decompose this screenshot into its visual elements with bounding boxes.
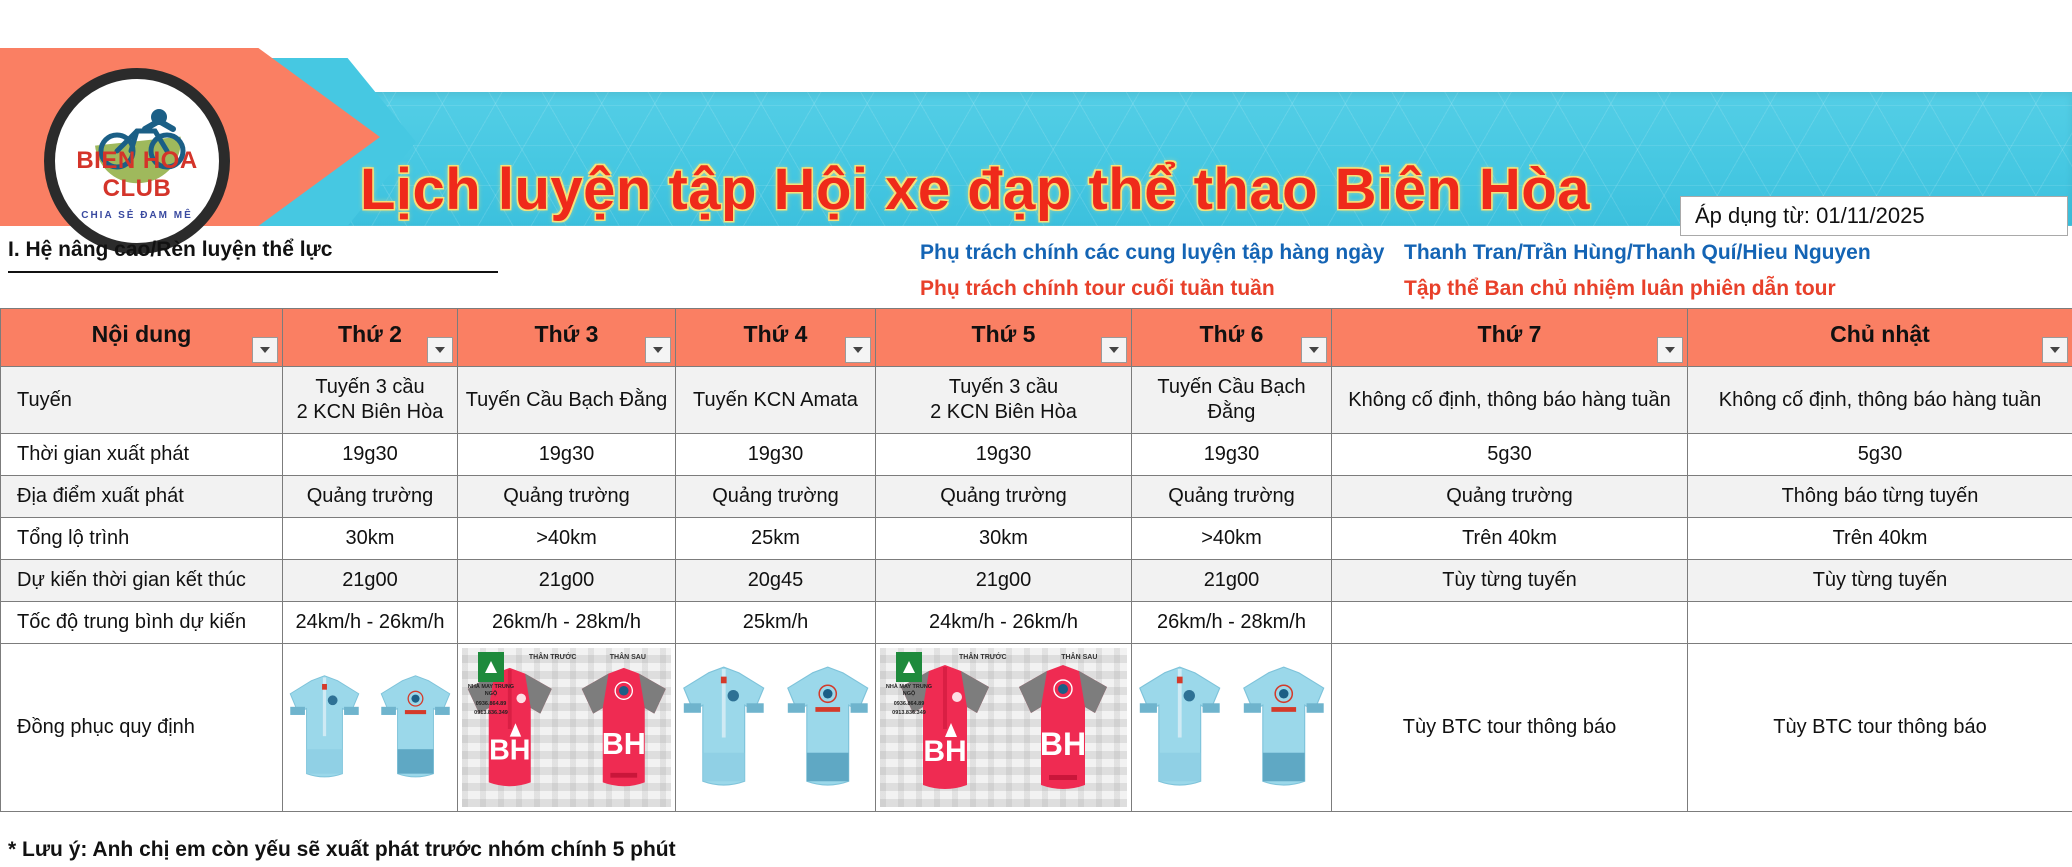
table-cell: 19g30 — [1132, 434, 1332, 476]
col-header-chu-nhat[interactable]: Chủ nhật — [1688, 309, 2072, 367]
club-logo: BIEN HOA CLUB CHIA SẺ ĐAM MÊ — [44, 68, 230, 254]
row-label: Địa điểm xuất phát — [1, 476, 283, 518]
table-cell: 20g45 — [676, 560, 876, 602]
table-cell: Quảng trường — [458, 476, 676, 518]
table-cell: Quảng trường — [1132, 476, 1332, 518]
jersey-blue-pair — [287, 648, 453, 807]
jersey-front-tag: THÂN TRƯỚC — [529, 654, 577, 663]
brand-line-3: 0913.836.349 — [884, 710, 934, 717]
table-cell: Tuyến 3 cầu 2 KCN Biên Hòa — [876, 367, 1132, 434]
table-cell: 25km — [676, 518, 876, 560]
svg-text:BH: BH — [489, 734, 530, 766]
table-cell: Quảng trường — [283, 476, 458, 518]
col-header-thu-2[interactable]: Thứ 2 — [283, 309, 458, 367]
table-row: Tổng lộ trình 30km >40km 25km 30km >40km… — [1, 518, 2072, 560]
jersey-back-tag: THÂN SAU — [1061, 654, 1097, 663]
row-label: Thời gian xuất phát — [1, 434, 283, 476]
brand-square-icon — [478, 652, 504, 682]
row-label: Tốc độ trung bình dự kiến — [1, 602, 283, 644]
jersey-red-pair: NHÀ MAY TRUNG NGỘ 0936.864.89 0913.836.3… — [880, 648, 1127, 807]
table-cell: 21g00 — [283, 560, 458, 602]
tailor-brand-logo: NHÀ MAY TRUNG NGỘ 0936.864.89 0913.836.3… — [466, 652, 516, 718]
table-cell: Không cố định, thông báo hàng tuần — [1332, 367, 1688, 434]
table-cell: Quảng trường — [1332, 476, 1688, 518]
jersey-back-tag: THÂN SAU — [610, 654, 646, 663]
uniform-cell-sun: Tùy BTC tour thông báo — [1688, 644, 2072, 812]
filter-dropdown-icon[interactable] — [1101, 337, 1127, 363]
jersey-blue-front-icon — [287, 658, 362, 798]
filter-dropdown-icon[interactable] — [845, 337, 871, 363]
brand-line-3: 0913.836.349 — [466, 710, 516, 717]
uniform-cell-fri — [1132, 644, 1332, 812]
table-cell: Tuyến Cầu Bạch Đằng — [458, 367, 676, 434]
table-cell: 30km — [283, 518, 458, 560]
schedule-table-body: Tuyến Tuyến 3 cầu 2 KCN Biên Hòa Tuyến C… — [1, 367, 2072, 812]
table-cell: 25km/h — [676, 602, 876, 644]
table-cell: 24km/h - 26km/h — [876, 602, 1132, 644]
filter-dropdown-icon[interactable] — [2042, 337, 2068, 363]
col-header-label: Thứ 3 — [535, 321, 599, 347]
effective-date-box[interactable]: Áp dụng từ: 01/11/2025 — [1680, 196, 2068, 236]
table-cell: Tuyến 3 cầu 2 KCN Biên Hòa — [283, 367, 458, 434]
uniform-cell-thu: NHÀ MAY TRUNG NGỘ 0936.864.89 0913.836.3… — [876, 644, 1132, 812]
table-cell: 21g00 — [876, 560, 1132, 602]
brand-line-2: 0936.864.89 — [466, 701, 516, 708]
logo-club-name: BIEN HOA CLUB — [55, 147, 219, 203]
svg-text:BH: BH — [923, 735, 966, 768]
table-row: Thời gian xuất phát 19g30 19g30 19g30 19… — [1, 434, 2072, 476]
table-cell — [1688, 602, 2072, 644]
col-header-label: Nội dung — [92, 321, 192, 347]
col-header-noi-dung[interactable]: Nội dung — [1, 309, 283, 367]
jersey-blue-front-icon — [680, 658, 768, 798]
daily-lead-label: Phụ trách chính các cung luyện tập hàng … — [920, 241, 1384, 265]
col-header-thu-6[interactable]: Thứ 6 — [1132, 309, 1332, 367]
table-cell: 21g00 — [1132, 560, 1332, 602]
jersey-red-back-icon: BH — [1013, 657, 1113, 799]
col-header-thu-7[interactable]: Thứ 7 — [1332, 309, 1688, 367]
table-cell: Tùy từng tuyến — [1332, 560, 1688, 602]
svg-text:BH: BH — [601, 726, 645, 760]
table-cell: 24km/h - 26km/h — [283, 602, 458, 644]
section-heading: I. Hệ nâng cao/Rèn luyện thể lực — [8, 238, 498, 273]
row-label: Đồng phục quy định — [1, 644, 283, 812]
weekend-lead-label: Phụ trách chính tour cuối tuần tuần — [920, 277, 1275, 301]
table-cell: 5g30 — [1332, 434, 1688, 476]
table-cell: 26km/h - 28km/h — [458, 602, 676, 644]
col-header-label: Chủ nhật — [1830, 321, 1930, 347]
jersey-blue-back-icon — [784, 658, 872, 798]
brand-line-2: 0936.864.89 — [884, 701, 934, 708]
brand-line-1: NHÀ MAY TRUNG NGỘ — [466, 684, 516, 699]
uniform-cell-sat: Tùy BTC tour thông báo — [1332, 644, 1688, 812]
col-header-thu-4[interactable]: Thứ 4 — [676, 309, 876, 367]
table-cell: Tuyến KCN Amata — [676, 367, 876, 434]
table-row-uniform: Đồng phục quy định — [1, 644, 2072, 812]
table-row: Tuyến Tuyến 3 cầu 2 KCN Biên Hòa Tuyến C… — [1, 367, 2072, 434]
filter-dropdown-icon[interactable] — [645, 337, 671, 363]
logo-slogan: CHIA SẺ ĐAM MÊ — [55, 210, 219, 221]
table-cell: Thông báo từng tuyến — [1688, 476, 2072, 518]
table-cell: 19g30 — [458, 434, 676, 476]
col-header-label: Thứ 5 — [972, 321, 1036, 347]
footer-note: * Lưu ý: Anh chị em còn yếu sẽ xuất phát… — [8, 838, 676, 862]
jersey-blue-pair — [1136, 648, 1327, 807]
table-cell: >40km — [458, 518, 676, 560]
jersey-blue-back-icon — [378, 658, 453, 798]
brand-line-1: NHÀ MAY TRUNG NGỘ — [884, 684, 934, 699]
filter-dropdown-icon[interactable] — [1657, 337, 1683, 363]
table-cell: Tùy từng tuyến — [1688, 560, 2072, 602]
table-cell: Trên 40km — [1332, 518, 1688, 560]
filter-dropdown-icon[interactable] — [252, 337, 278, 363]
jersey-blue-back-icon — [1240, 658, 1328, 798]
svg-text:BH: BH — [1039, 726, 1085, 762]
table-cell: Quảng trường — [876, 476, 1132, 518]
filter-dropdown-icon[interactable] — [1301, 337, 1327, 363]
jersey-red-back-icon: BH — [576, 657, 672, 799]
table-cell: 30km — [876, 518, 1132, 560]
table-cell: 19g30 — [283, 434, 458, 476]
uniform-cell-mon — [283, 644, 458, 812]
table-row: Dự kiến thời gian kết thúc 21g00 21g00 2… — [1, 560, 2072, 602]
col-header-label: Thứ 6 — [1200, 321, 1264, 347]
schedule-table-wrapper: Nội dung Thứ 2 Thứ 3 Thứ 4 — [0, 308, 2072, 812]
table-cell: 26km/h - 28km/h — [1132, 602, 1332, 644]
table-cell: 5g30 — [1688, 434, 2072, 476]
table-cell: 19g30 — [676, 434, 876, 476]
jersey-front-tag: THÂN TRƯỚC — [959, 654, 1007, 663]
daily-lead-names: Thanh Tran/Trần Hùng/Thanh Quí/Hieu Nguy… — [1404, 241, 1871, 265]
jersey-blue-pair — [680, 648, 871, 807]
row-label: Tuyến — [1, 367, 283, 434]
col-header-thu-5[interactable]: Thứ 5 — [876, 309, 1132, 367]
table-cell: Không cố định, thông báo hàng tuần — [1688, 367, 2072, 434]
brand-square-icon — [896, 652, 922, 682]
table-cell — [1332, 602, 1688, 644]
table-cell: Quảng trường — [676, 476, 876, 518]
col-header-label: Thứ 2 — [338, 321, 402, 347]
table-cell: Trên 40km — [1688, 518, 2072, 560]
jersey-blue-front-icon — [1136, 658, 1224, 798]
table-cell: Tuyến Cầu Bạch Đằng — [1132, 367, 1332, 434]
table-row: Địa điểm xuất phát Quảng trường Quảng tr… — [1, 476, 2072, 518]
weekend-lead-names: Tập thể Ban chủ nhiệm luân phiên dẫn tou… — [1404, 277, 1836, 301]
uniform-cell-wed — [676, 644, 876, 812]
page-title: Lịch luyện tập Hội xe đạp thể thao Biên … — [360, 156, 1640, 223]
table-row: Tốc độ trung bình dự kiến 24km/h - 26km/… — [1, 602, 2072, 644]
jersey-red-pair: NHÀ MAY TRUNG NGỘ 0936.864.89 0913.836.3… — [462, 648, 671, 807]
col-header-label: Thứ 4 — [744, 321, 808, 347]
table-cell: 19g30 — [876, 434, 1132, 476]
uniform-cell-tue: NHÀ MAY TRUNG NGỘ 0936.864.89 0913.836.3… — [458, 644, 676, 812]
schedule-table: Nội dung Thứ 2 Thứ 3 Thứ 4 — [0, 308, 2072, 812]
filter-dropdown-icon[interactable] — [427, 337, 453, 363]
col-header-label: Thứ 7 — [1478, 321, 1542, 347]
row-label: Tổng lộ trình — [1, 518, 283, 560]
tailor-brand-logo: NHÀ MAY TRUNG NGỘ 0936.864.89 0913.836.3… — [884, 652, 934, 718]
table-cell: 21g00 — [458, 560, 676, 602]
page-root: BIEN HOA CLUB CHIA SẺ ĐAM MÊ Lịch luyện … — [0, 0, 2072, 867]
table-header-row: Nội dung Thứ 2 Thứ 3 Thứ 4 — [1, 309, 2072, 367]
table-cell: >40km — [1132, 518, 1332, 560]
col-header-thu-3[interactable]: Thứ 3 — [458, 309, 676, 367]
row-label: Dự kiến thời gian kết thúc — [1, 560, 283, 602]
